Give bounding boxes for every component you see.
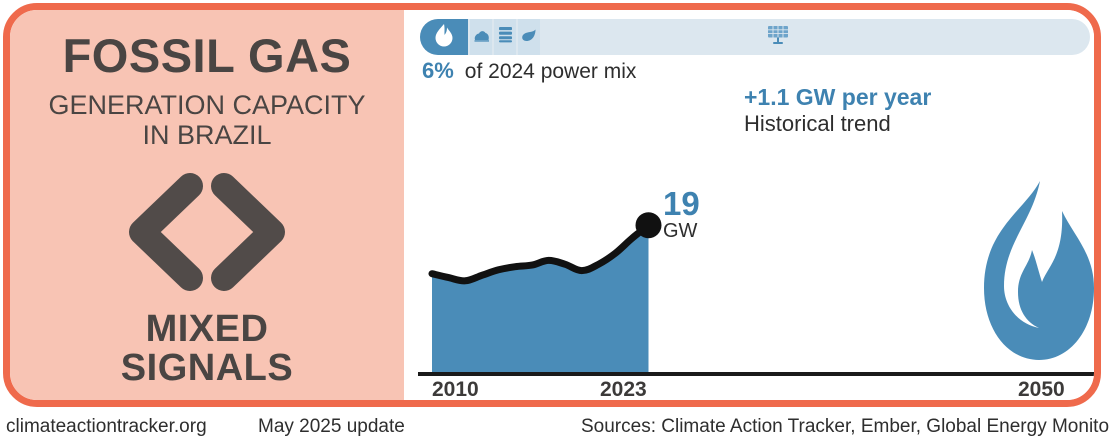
strip-segment-oil-drop[interactable]: [518, 19, 540, 55]
trend-label: Historical trend: [744, 111, 931, 137]
infographic-card: FOSSIL GAS GENERATION CAPACITY IN BRAZIL…: [0, 0, 1110, 444]
page-subtitle: GENERATION CAPACITY IN BRAZIL: [48, 91, 365, 150]
footer-sources: Sources: Climate Action Tracker, Ember, …: [581, 416, 1110, 438]
endpoint-value: 19: [663, 188, 700, 219]
coal-icon: [473, 28, 490, 47]
oil-drop-icon: [521, 27, 537, 48]
gas-flame-icon: [434, 23, 454, 52]
subtitle-line-2: IN BRAZIL: [48, 121, 365, 151]
power-mix-stat: 6% of 2024 power mix: [422, 58, 636, 84]
left-summary-panel: FOSSIL GAS GENERATION CAPACITY IN BRAZIL…: [10, 10, 404, 400]
chart-area-fill: [432, 225, 649, 374]
endpoint-value-callout: 19 GW: [663, 188, 700, 243]
gas-flame-icon: [974, 178, 1101, 369]
footer: climateactiontracker.org May 2025 update…: [0, 412, 1110, 444]
capacity-area-chart: 19 GW: [418, 160, 1101, 400]
oil-barrels-icon: [498, 26, 513, 48]
rating-line-2: SIGNALS: [121, 349, 293, 388]
trend-rate: +1.1 GW per year: [744, 84, 931, 111]
page-title: FOSSIL GAS: [63, 32, 352, 79]
subtitle-line-1: GENERATION CAPACITY: [48, 91, 365, 121]
mixed-signals-chevrons-icon: [122, 172, 292, 292]
axis-tick-start: 2010: [432, 378, 479, 402]
power-mix-percent: 6%: [422, 58, 454, 84]
rating-line-1: MIXED: [121, 310, 293, 349]
chart-axis-labels: 2010 2023 2050: [418, 378, 1101, 407]
strip-segment-solar[interactable]: [758, 19, 798, 55]
chart-endpoint-marker: [636, 212, 662, 238]
footer-update: May 2025 update: [258, 416, 405, 438]
rating-verdict: MIXED SIGNALS: [121, 310, 293, 388]
strip-segment-gas[interactable]: [420, 19, 468, 55]
power-mix-description: of 2024 power mix: [465, 60, 637, 84]
footer-site[interactable]: climateactiontracker.org: [6, 416, 207, 438]
strip-segment-oil[interactable]: [494, 19, 516, 55]
solar-panel-icon: [766, 24, 790, 51]
endpoint-unit: GW: [663, 219, 700, 243]
axis-tick-middle: 2023: [600, 378, 647, 402]
right-chart-panel: 6% of 2024 power mix +1.1 GW per year Hi…: [404, 10, 1094, 400]
axis-tick-end: 2050: [1018, 378, 1065, 402]
historical-trend-block: +1.1 GW per year Historical trend: [744, 84, 931, 137]
strip-segment-coal[interactable]: [470, 19, 492, 55]
main-card: FOSSIL GAS GENERATION CAPACITY IN BRAZIL…: [3, 3, 1101, 407]
energy-source-selector[interactable]: [420, 19, 1090, 55]
